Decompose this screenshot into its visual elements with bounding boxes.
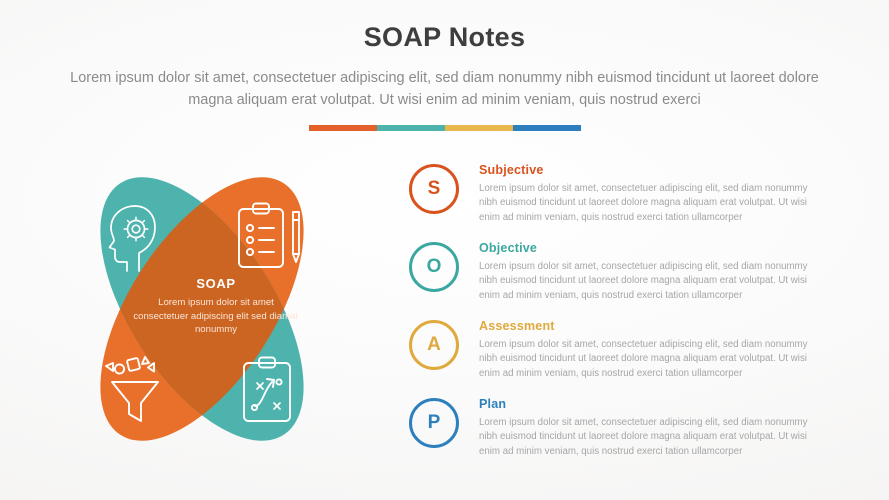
color-divider-bar <box>309 125 581 131</box>
item-text-objective: Objective Lorem ipsum dolor sit amet, co… <box>459 240 809 303</box>
divider-segment-orange <box>309 125 377 131</box>
venn-diagram-panel: SOAP Lorem ipsum dolor sit amet consecte… <box>0 148 400 500</box>
page-header: SOAP Notes Lorem ipsum dolor sit amet, c… <box>0 0 889 131</box>
divider-segment-teal <box>377 125 445 131</box>
page-title: SOAP Notes <box>0 22 889 53</box>
divider-segment-blue <box>513 125 581 131</box>
item-text-plan: Plan Lorem ipsum dolor sit amet, consect… <box>459 396 809 459</box>
item-title-plan: Plan <box>479 397 809 411</box>
badge-assessment: A <box>409 320 459 370</box>
venn-overlap-region <box>60 154 344 464</box>
list-item-plan[interactable]: P Plan Lorem ipsum dolor sit amet, conse… <box>409 396 829 474</box>
item-title-subjective: Subjective <box>479 163 809 177</box>
list-item-subjective[interactable]: S Subjective Lorem ipsum dolor sit amet,… <box>409 162 829 240</box>
divider-segment-gold <box>445 125 513 131</box>
soap-items-list: S Subjective Lorem ipsum dolor sit amet,… <box>400 148 889 500</box>
page-subtitle: Lorem ipsum dolor sit amet, consectetuer… <box>65 67 825 112</box>
item-body-objective: Lorem ipsum dolor sit amet, consectetuer… <box>479 260 809 303</box>
badge-plan: P <box>409 398 459 448</box>
item-text-assessment: Assessment Lorem ipsum dolor sit amet, c… <box>459 318 809 381</box>
badge-objective: O <box>409 242 459 292</box>
list-item-objective[interactable]: O Objective Lorem ipsum dolor sit amet, … <box>409 240 829 318</box>
item-title-objective: Objective <box>479 241 809 255</box>
item-body-assessment: Lorem ipsum dolor sit amet, consectetuer… <box>479 338 809 381</box>
main-content: SOAP Lorem ipsum dolor sit amet consecte… <box>0 148 889 500</box>
badge-subjective: S <box>409 164 459 214</box>
list-item-assessment[interactable]: A Assessment Lorem ipsum dolor sit amet,… <box>409 318 829 396</box>
item-text-subjective: Subjective Lorem ipsum dolor sit amet, c… <box>459 162 809 225</box>
item-body-subjective: Lorem ipsum dolor sit amet, consectetuer… <box>479 182 809 225</box>
soap-venn-diagram <box>52 154 352 464</box>
item-title-assessment: Assessment <box>479 319 809 333</box>
item-body-plan: Lorem ipsum dolor sit amet, consectetuer… <box>479 416 809 459</box>
